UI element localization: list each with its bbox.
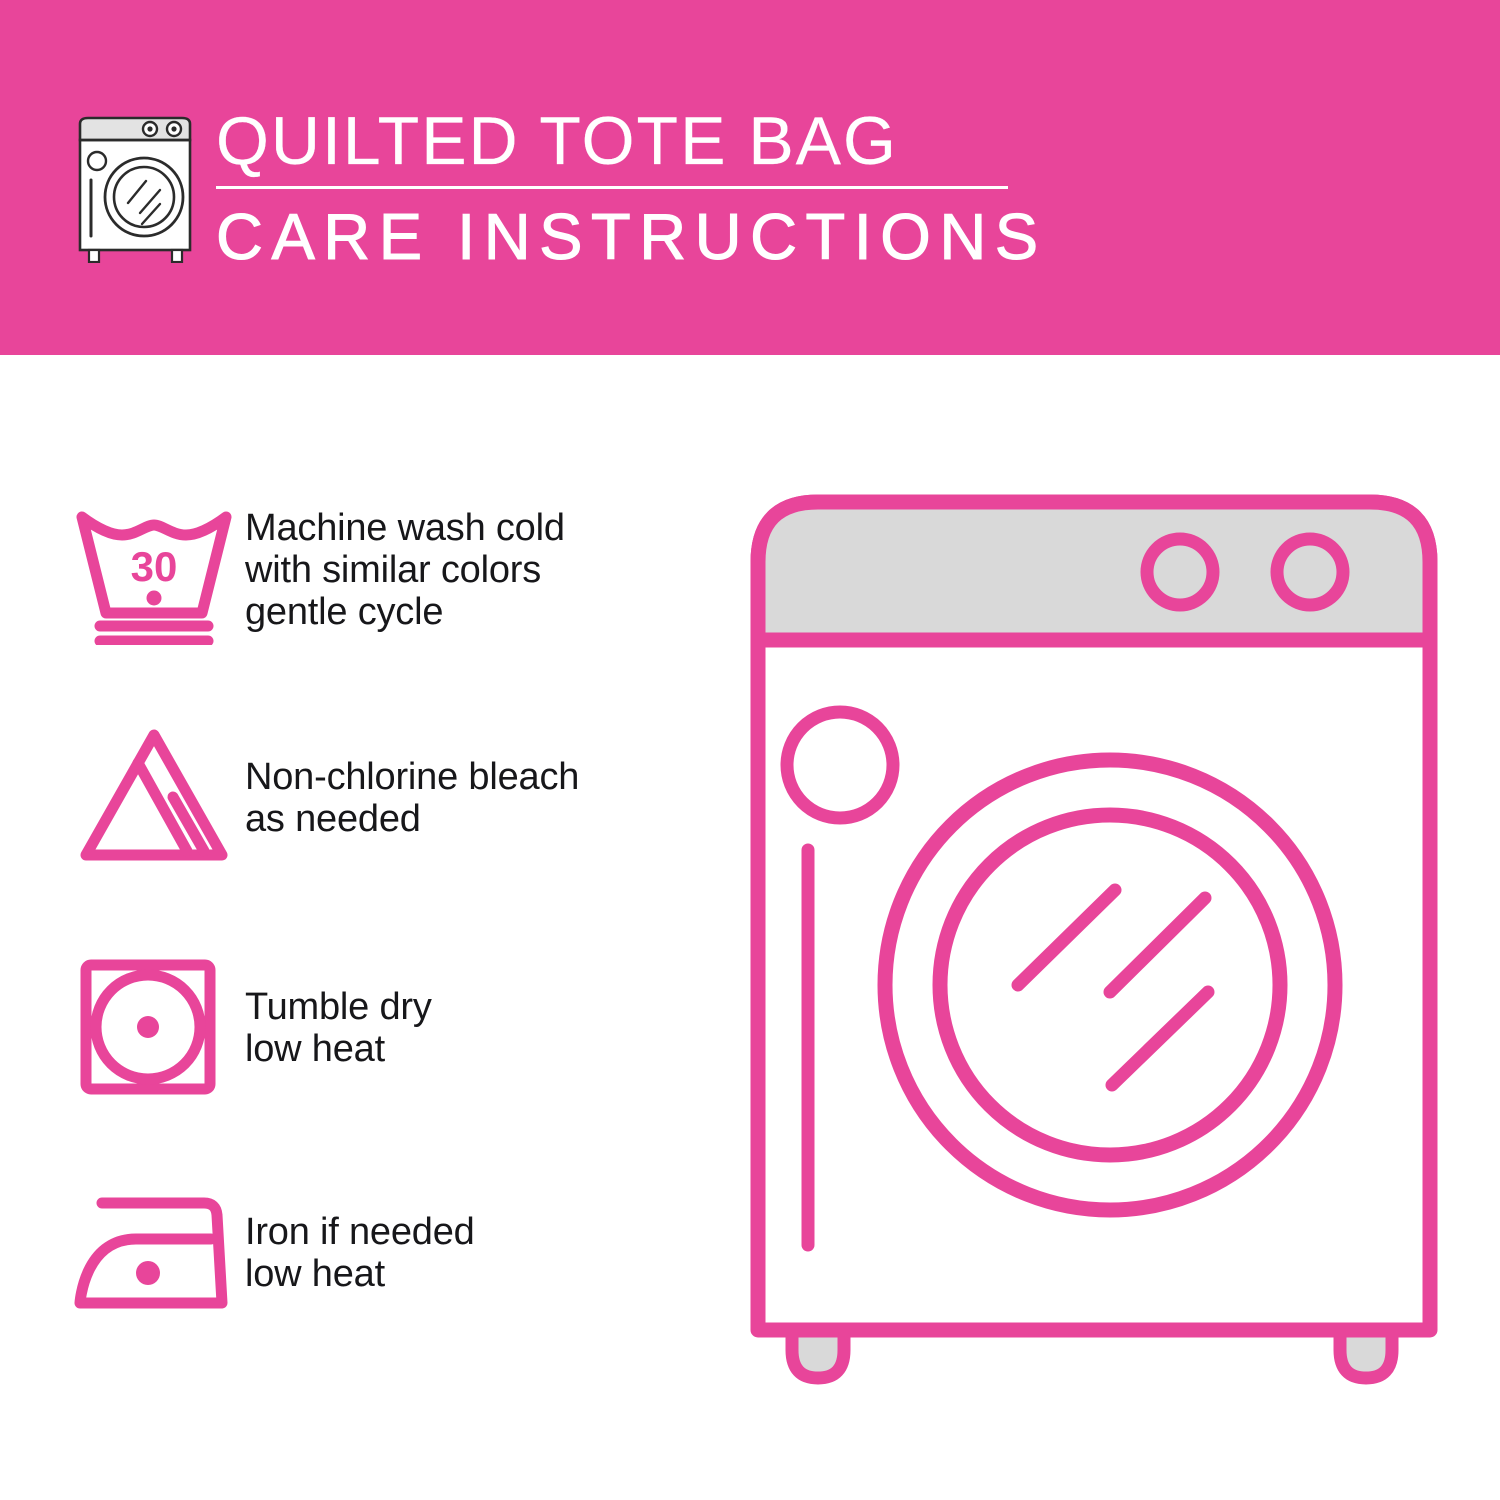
- instruction-row-tumble-dry: Tumble dry low heat: [70, 955, 710, 1100]
- non-chlorine-bleach-triangle-icon: [70, 725, 245, 870]
- instruction-row-iron: Iron if needed low heat: [70, 1185, 710, 1320]
- instruction-label-iron: Iron if needed low heat: [245, 1211, 475, 1295]
- wash-tub-30-gentle-icon: 30: [70, 495, 245, 645]
- header-text-block: QUILTED TOTE BAG CARE INSTRUCTIONS: [216, 104, 1016, 273]
- instruction-label-bleach: Non-chlorine bleach as needed: [245, 756, 579, 840]
- page-title: QUILTED TOTE BAG: [216, 104, 1016, 178]
- care-instruction-list: 30 Machine wash cold with similar colors…: [0, 355, 720, 1500]
- large-washing-machine-illustration: [740, 480, 1460, 1440]
- iron-low-heat-icon: [70, 1185, 245, 1320]
- wash-temperature-value: 30: [131, 543, 178, 590]
- instruction-label-wash: Machine wash cold with similar colors ge…: [245, 507, 565, 633]
- washing-machine-icon: [62, 108, 212, 263]
- instruction-row-bleach: Non-chlorine bleach as needed: [70, 725, 710, 870]
- instruction-label-tumble-dry: Tumble dry low heat: [245, 986, 432, 1070]
- washer-control-panel: [758, 502, 1430, 640]
- title-divider: [216, 186, 1008, 189]
- page-subtitle: CARE INSTRUCTIONS: [216, 201, 1016, 273]
- instruction-row-wash: 30 Machine wash cold with similar colors…: [70, 495, 710, 645]
- tumble-dry-low-icon: [70, 955, 245, 1100]
- header-banner: QUILTED TOTE BAG CARE INSTRUCTIONS: [0, 0, 1500, 355]
